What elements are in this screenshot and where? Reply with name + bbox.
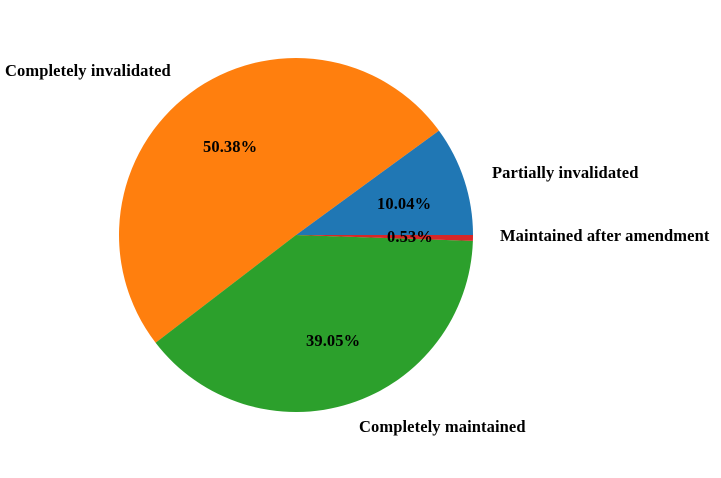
pie-value-label-partially-invalidated: 10.04% (377, 196, 431, 213)
pie-value-label-maintained-after-amendment: 0.53% (387, 229, 433, 246)
pie-value-label-completely-invalidated: 50.38% (203, 139, 257, 156)
pie-category-label-completely-maintained: Completely maintained (359, 419, 526, 436)
pie-category-label-maintained-after-amendment: Maintained after amendment (500, 228, 709, 245)
pie-value-label-completely-maintained: 39.05% (306, 333, 360, 350)
pie-category-label-partially-invalidated: Partially invalidated (492, 165, 638, 182)
pie-chart-figure: Completely invalidated Partially invalid… (0, 0, 721, 478)
pie-category-label-completely-invalidated: Completely invalidated (5, 63, 171, 80)
